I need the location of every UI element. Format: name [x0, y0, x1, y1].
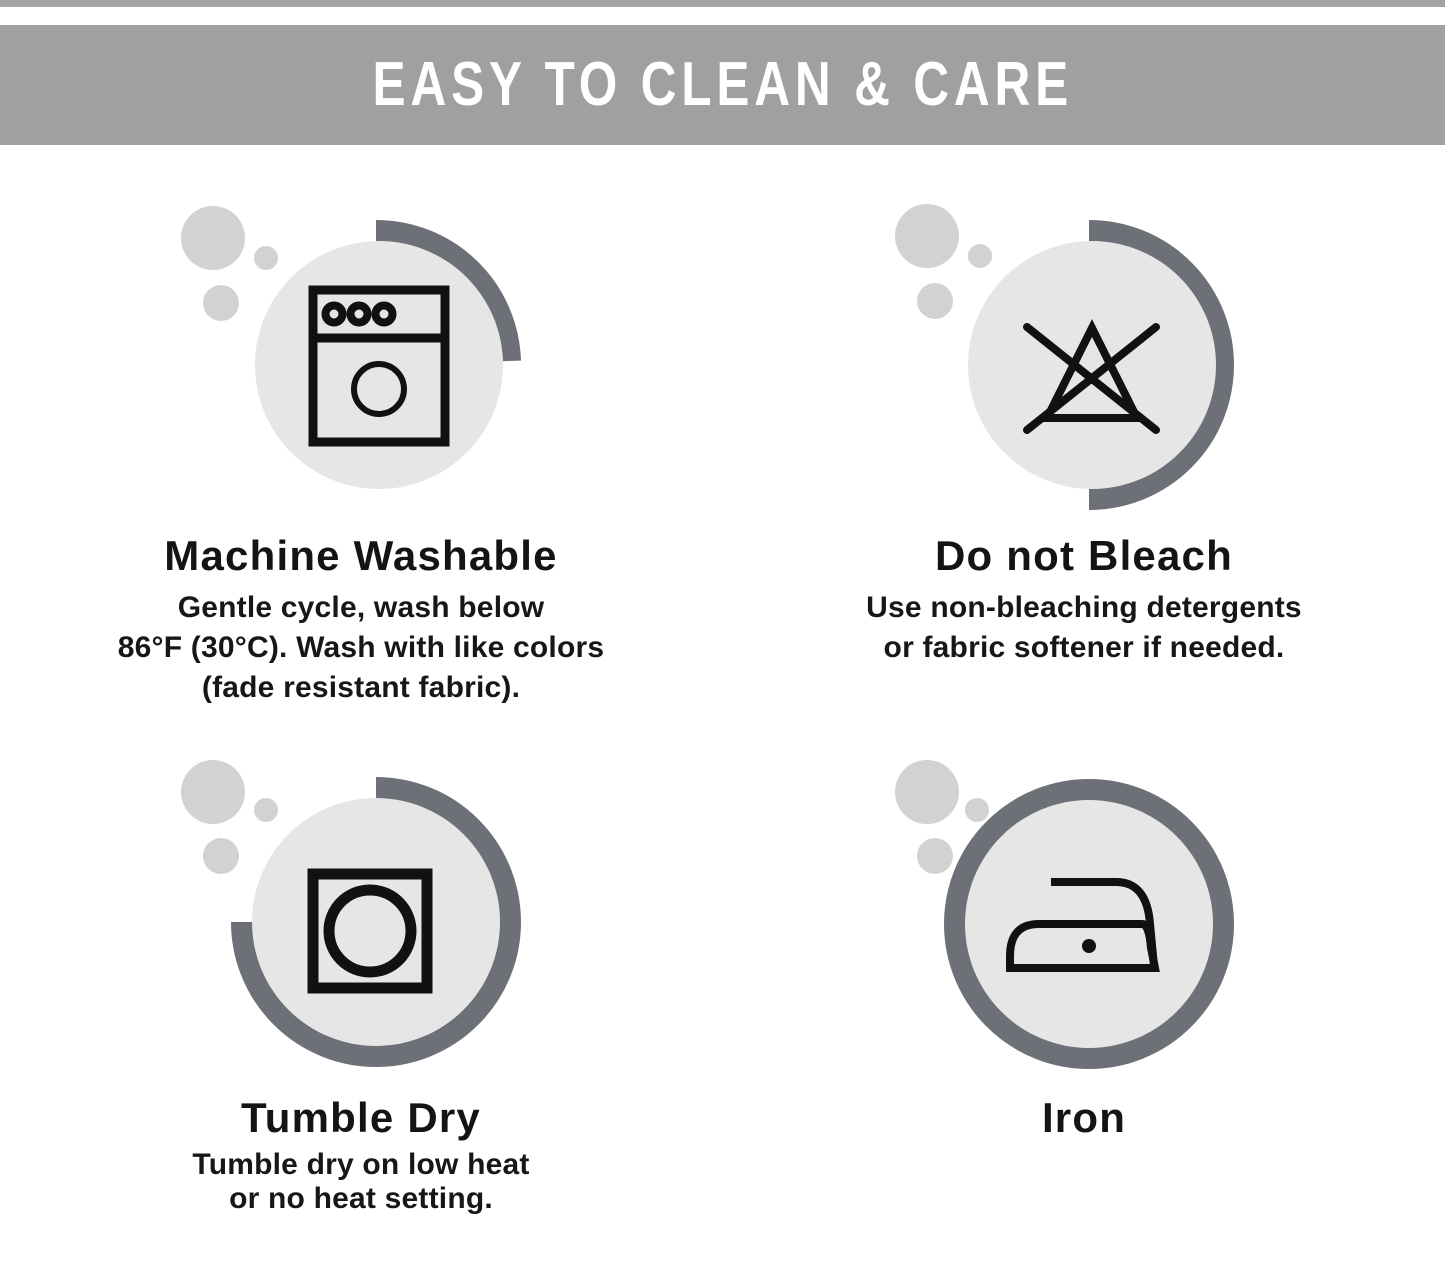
care-card-iron: Iron — [723, 752, 1445, 1150]
card-title: Tumble Dry — [0, 1096, 722, 1140]
bubble-medium-icon — [917, 283, 953, 319]
bubble-small-icon — [254, 246, 278, 270]
bubble-medium-icon — [203, 838, 239, 874]
iron-dot-icon — [1082, 939, 1096, 953]
top-rule — [0, 0, 1445, 7]
bubble-large-icon — [181, 206, 245, 270]
card-description: Tumble dry on low heat or no heat settin… — [41, 1148, 681, 1215]
bubble-large-icon — [181, 760, 245, 824]
bubble-medium-icon — [917, 838, 953, 874]
page-title: EASY TO CLEAN & CARE — [372, 54, 1072, 116]
do-not-bleach-badge — [884, 190, 1284, 540]
bubble-large-icon — [895, 204, 959, 268]
care-instructions-grid: Machine Washable Gentle cycle, wash belo… — [0, 145, 1445, 1263]
card-title: Do not Bleach — [723, 534, 1445, 578]
icon-disc — [968, 241, 1216, 489]
card-description: Use non-bleaching detergents or fabric s… — [764, 588, 1404, 668]
iron-badge — [884, 752, 1284, 1102]
care-card-machine-washable: Machine Washable Gentle cycle, wash belo… — [0, 190, 722, 708]
card-title: Machine Washable — [0, 534, 722, 578]
care-card-do-not-bleach: Do not Bleach Use non-bleaching detergen… — [723, 190, 1445, 668]
card-title: Iron — [723, 1096, 1445, 1140]
washing-machine-badge — [161, 190, 561, 540]
header-banner: EASY TO CLEAN & CARE — [0, 25, 1445, 145]
card-description: Gentle cycle, wash below 86°F (30°C). Wa… — [41, 588, 681, 708]
care-card-tumble-dry: Tumble Dry Tumble dry on low heat or no … — [0, 752, 722, 1215]
bubble-small-icon — [965, 798, 989, 822]
icon-disc — [252, 798, 500, 1046]
bubble-large-icon — [895, 760, 959, 824]
bubble-small-icon — [968, 244, 992, 268]
tumble-dry-badge — [161, 752, 561, 1102]
bubble-medium-icon — [203, 285, 239, 321]
bubble-small-icon — [254, 798, 278, 822]
